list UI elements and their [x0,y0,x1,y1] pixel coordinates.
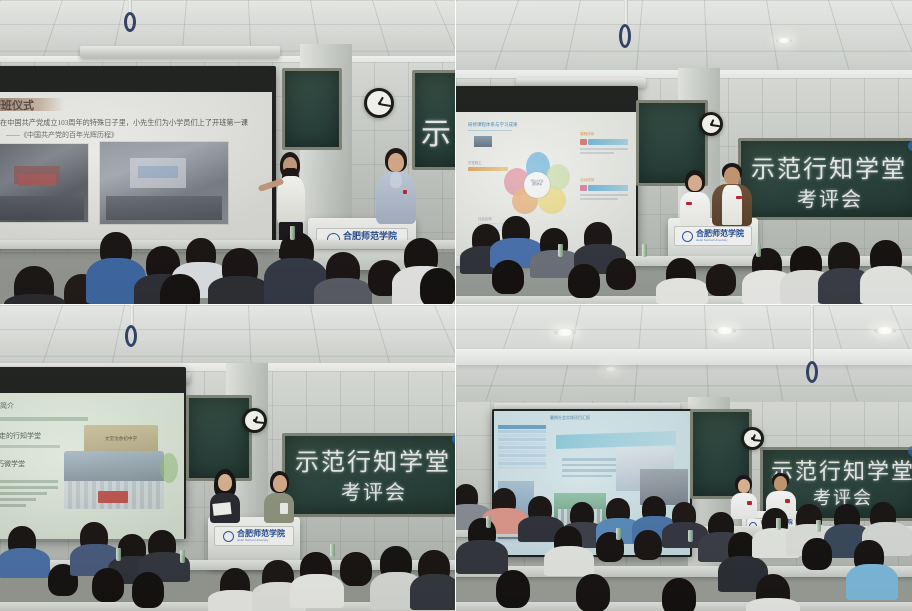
speaker-right [262,471,296,521]
clock-center-pin [378,102,381,105]
blackboard-chalk-text: 示 [421,109,453,153]
slide-heading: 研修课程体系与学习成果 [468,122,518,128]
host-head [388,153,404,172]
audience-body [746,598,800,611]
panel-bottom-right: Wide classroom view with full audience a… [456,305,912,611]
blackboard-main: 示范行知学堂 考评会 [282,433,455,517]
projector-unit [80,46,280,58]
blackboard-left [282,68,342,150]
student-head [724,167,740,185]
audience-head [492,260,524,294]
audience-head [568,264,600,298]
student-chest-logo [686,202,692,205]
slide-left-item: 学堂概主 [468,160,508,171]
student-head [688,175,702,191]
slide-line-1: 在中国共产党成立103周年的特殊日子里，小先生们为小学员们上了开班第一课 [0,118,268,128]
speaker-head [218,474,232,491]
audience-area [456,212,912,304]
audience-area [0,516,455,611]
slide-photo-left [0,144,88,222]
audience-head [634,530,662,560]
water-bottle [688,530,693,542]
audience-desk-row [0,240,455,249]
audience-body [0,548,50,578]
speaker-left [208,469,242,521]
blackboard-line-1: 示范行知学堂 [751,149,907,184]
petal-diagram: 行知小学堂课程体系 [500,152,572,218]
wall-clock [741,427,764,450]
slide-subtext-1 [0,417,88,421]
audience-head [576,574,610,611]
panel-bottom-left: Two women presenting a green-tinted slid… [0,305,455,611]
audience-head [132,572,164,608]
water-bottle [180,550,185,563]
water-bottle [776,518,781,530]
audience-body [208,276,270,304]
water-bottle [558,244,563,257]
water-bottle [756,244,761,257]
wall-clock [364,88,394,118]
projector-hook-icon [124,12,136,32]
audience-body [4,294,66,304]
water-bottle [290,226,295,240]
ceiling-downlight [554,329,576,336]
audience-body [656,278,708,304]
host-scarf [390,172,402,188]
audience-body [314,278,372,304]
ceiling-downlight [874,327,896,334]
slide-thumb-photo [474,136,492,147]
panel-top-right: Two student presenters in white shirts a… [456,0,912,304]
wall-clock [242,408,267,433]
slide-right-item-1: 课程体系 [580,132,628,154]
slide-photo-right [100,142,228,224]
slide-heading: 暑期社会实践项目汇报 [550,415,590,421]
ceiling-beam [456,349,912,365]
clock-center-pin [710,123,713,126]
audience-area [0,218,455,304]
student-chest-logo [736,196,742,199]
clock-center-pin [253,419,256,422]
audience-head [340,552,372,586]
ceiling-downlight [776,38,792,43]
projector-hook-icon [125,325,137,347]
slide-heading: 学堂简介 [0,401,14,411]
slide-quote-2: 心巧微学堂 [0,459,25,469]
water-bottle [616,528,621,540]
slide-title: 开班仪式 [0,97,34,113]
ceiling-downlight [604,367,618,371]
audience-head [92,568,124,602]
slide-gate-caption: 文堂沈余初中学 [105,436,137,442]
water-bottle [116,548,121,561]
water-bottle [816,520,821,532]
panel-top-left: Opening ceremony presentation with two s… [0,0,455,304]
audience-body [860,266,912,304]
photo-collage: Opening ceremony presentation with two s… [0,0,912,611]
water-bottle [486,516,491,528]
audience-head [420,268,455,304]
projector-mount-rod [810,305,814,365]
audience-body [290,574,344,608]
slide-body-lines [0,477,58,510]
petal-center-label: 行知小学堂课程体系 [526,180,548,186]
clock-minute-hand [379,103,391,107]
wall-clock [699,112,723,136]
audience-body [456,540,508,574]
audience-body [846,564,898,600]
group-photo-banner [98,491,128,503]
slide-data-table [498,425,546,470]
projector-hook-icon [806,361,818,383]
blackboard-line-2: 考评会 [797,183,863,212]
audience-head [802,538,832,570]
blackboard-line-2: 考评会 [341,476,407,505]
slide-green-accent [160,453,178,483]
speaker-phone [280,503,288,514]
blackboard-line-1: 示范行知学堂 [295,442,451,477]
slide-quote-1: 行走的行知学堂 [0,431,41,441]
speaker-host [372,148,420,224]
slide-line-2: ——《中国共产党的百年光辉历程》 [6,130,266,140]
ceiling-downlight [714,327,736,334]
speaker-head [273,475,287,492]
slide-right-item-2: 活动成效 [580,178,628,200]
audience-body [544,546,594,576]
audience-head [662,578,696,611]
audience-head [496,570,530,608]
host-badge [403,190,407,194]
blackboard-main: 示范行知学堂 考评会 [738,138,912,220]
audience-area [456,474,912,611]
speaker-script-paper [212,502,231,516]
water-bottle [330,544,335,557]
slide-group-photo [64,451,164,509]
clock-center-pin [751,437,754,440]
audience-body [410,574,455,610]
water-bottle [642,244,647,257]
slide-gate-graphic: 文堂沈余初中学 [84,425,158,453]
audience-head [606,258,636,290]
slide-subtext-2 [0,445,60,448]
projector-hook-icon [619,24,631,48]
audience-head [706,264,736,296]
